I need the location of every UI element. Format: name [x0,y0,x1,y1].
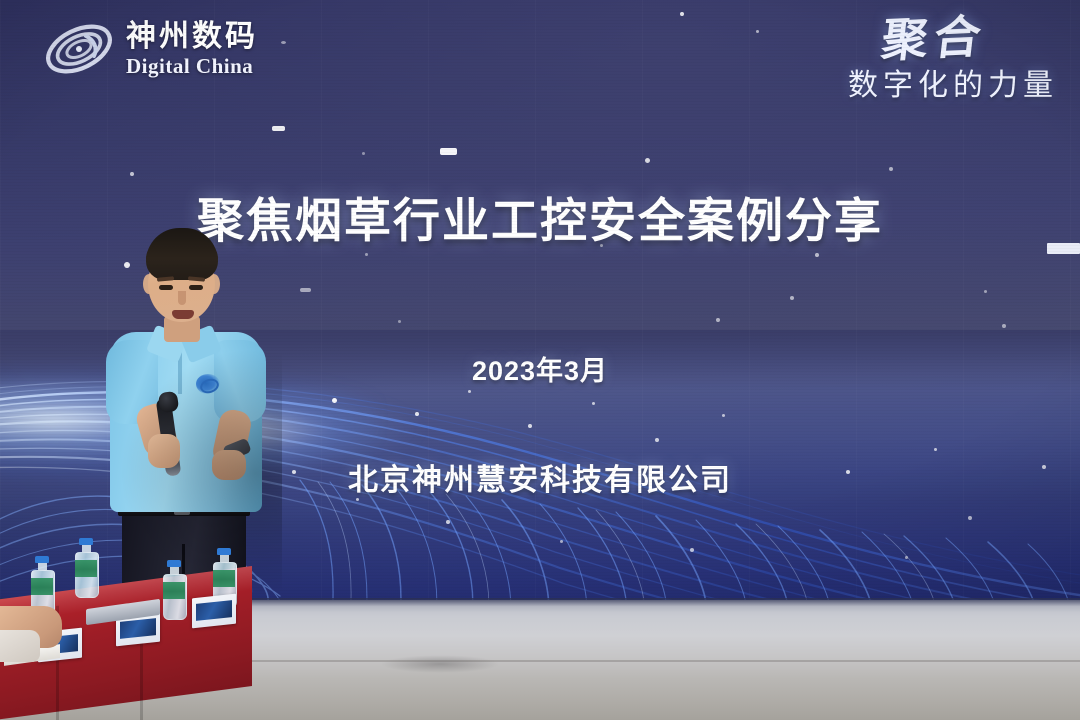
presenter-hand-left [148,434,180,468]
water-bottle [163,560,185,620]
conference-photo: 神州数码 Digital China 聚合 数字化的力量 聚焦烟草行业工控安全案… [0,0,1080,720]
bottle-label [163,582,185,599]
bottle-cap [217,548,231,555]
bottle-neck [38,563,47,570]
bottle-cap [35,556,49,563]
presenter-nose [178,291,186,305]
bottle-cap [79,538,93,545]
name-card-strip [196,600,232,621]
stage-floor-scuff [380,655,500,673]
presenter-eye-left [159,285,173,290]
digital-china-swirl-icon [42,16,116,82]
name-card [192,594,236,629]
bottle-label [31,578,53,595]
brand-name-en: Digital China [126,56,258,77]
bottle-neck [82,545,91,552]
presenter-eye-right [189,285,203,290]
seated-person-sleeve [0,630,40,662]
presenter-mouth [172,310,194,319]
juhe-calligraphy: 聚合 [845,15,989,65]
name-card-strip [120,618,156,639]
bottle-body [75,552,99,598]
presenter-sleeve-right [214,340,266,422]
screen-edge-highlight-bar [1047,243,1080,254]
presenter-shirt-logo [196,374,220,394]
brand-name-cn: 神州数码 [126,22,258,52]
bottle-label [213,570,235,587]
water-bottle [75,538,97,598]
bottle-neck [220,555,229,562]
bottle-body [163,574,187,620]
bottle-cap [167,560,181,567]
bottle-neck [170,567,179,574]
presenter-figure [96,228,281,614]
presenter-hand-right [212,450,246,480]
presenter-hair-fringe [146,240,218,266]
digital-china-logo-block: 神州数码 Digital China [42,16,258,82]
bottle-label [75,560,97,577]
juhe-brand-block: 聚合 数字化的力量 [848,18,1058,104]
